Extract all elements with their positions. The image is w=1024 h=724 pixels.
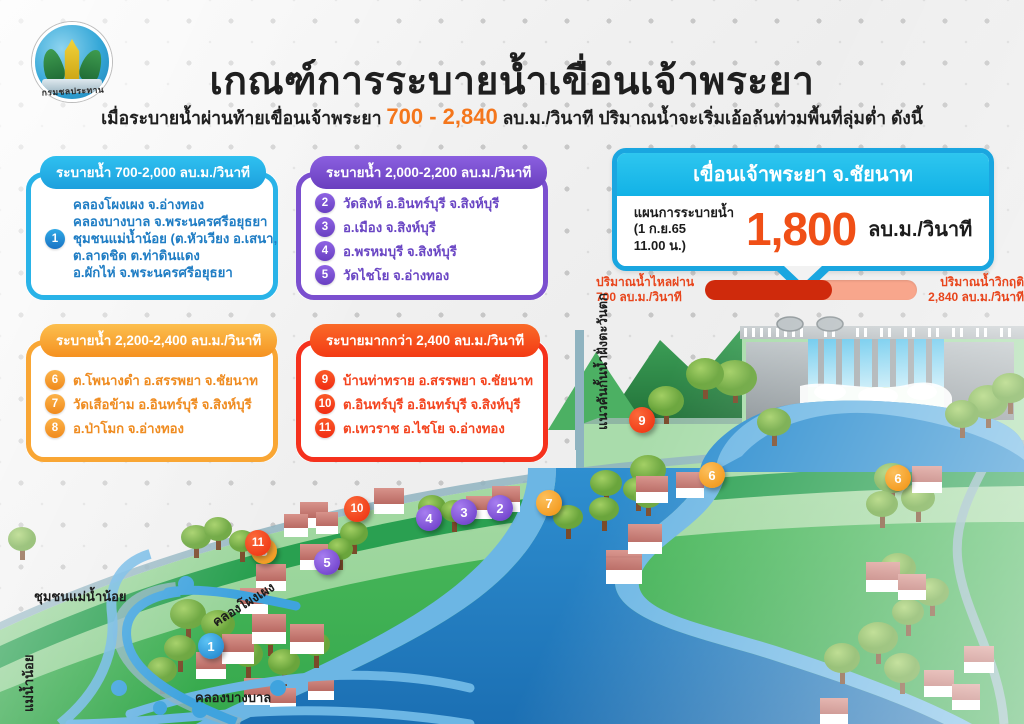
map-badge-10[interactable]: 10 <box>344 496 370 522</box>
card-rows: 2 วัดสิงห์ อ.อินทร์บุรี จ.สิงห์บุรี 3 อ.… <box>315 193 531 286</box>
list-item-number: 9 <box>315 370 335 390</box>
list-item[interactable]: 8 อ.ป่าโมก จ.อ่างทอง <box>45 418 261 439</box>
list-item-line: วัดไชโย จ.อ่างทอง <box>343 265 449 286</box>
list-item-number: 1 <box>45 229 65 249</box>
dam-panel-metric: แผนการระบายน้ำ (1 ก.ย.65 11.00 น.) 1,800… <box>617 196 989 266</box>
map-badge-4[interactable]: 4 <box>416 505 442 531</box>
list-item-line: ต.โพนางดำ อ.สรรพยา จ.ชัยนาท <box>73 370 258 391</box>
gauge-fill <box>705 280 832 300</box>
dam-plan-line-1: แผนการระบายน้ำ <box>634 205 734 221</box>
map-badge-11[interactable]: 11 <box>245 530 271 556</box>
list-item[interactable]: 5 วัดไชโย จ.อ่างทอง <box>315 265 531 286</box>
map-label-flood-embankment: แนวคันกั้นน้ำฝั่งตะวันตก <box>592 293 613 430</box>
dam-discharge-value: 1,800 <box>746 206 856 252</box>
subtitle-prefix: เมื่อระบายน้ำผ่านท้ายเขื่อนเจ้าพระยา <box>101 108 381 128</box>
list-item-number: 3 <box>315 217 335 237</box>
card-rows: 6 ต.โพนางดำ อ.สรรพยา จ.ชัยนาท 7 วัดเสือข… <box>45 370 261 439</box>
legend-card-over-2400: ระบายมากกว่า 2,400 ลบ.ม./วินาที 9 บ้านท่… <box>296 340 548 462</box>
gauge-track <box>705 280 917 300</box>
list-item[interactable]: 9 บ้านท่าทราย อ.สรรพยา จ.ชัยนาท <box>315 370 531 391</box>
card-content: 6 ต.โพนางดำ อ.สรรพยา จ.ชัยนาท 7 วัดเสือข… <box>31 345 273 457</box>
gauge-left-line-1: ปริมาณน้ำไหลผ่าน <box>596 275 694 290</box>
list-item-number: 6 <box>45 370 65 390</box>
dam-plan-label: แผนการระบายน้ำ (1 ก.ย.65 11.00 น.) <box>634 205 734 254</box>
list-item-number: 11 <box>315 418 335 438</box>
dam-plan-line-3: 11.00 น.) <box>634 238 734 254</box>
subtitle-suffix: ลบ.ม./วินาที ปริมาณน้ำจะเริ่มเอ้อล้นท่วม… <box>503 108 923 128</box>
card-rows: 1 คลองโผงเผง จ.อ่างทอง คลองบางบาล จ.พระน… <box>45 197 261 281</box>
list-item-line: คลองโผงเผง จ.อ่างทอง <box>73 197 277 213</box>
dam-panel-frame: เขื่อนเจ้าพระยา จ.ชัยนาท แผนการระบายน้ำ … <box>612 148 994 271</box>
list-item-number: 2 <box>315 193 335 213</box>
map-badge-6[interactable]: 6 <box>699 462 725 488</box>
map-badge-7[interactable]: 7 <box>536 490 562 516</box>
list-item-line: ต.อินทร์บุรี อ.อินทร์บุรี จ.สิงห์บุรี <box>343 394 521 415</box>
list-item-line: บ้านท่าทราย อ.สรรพยา จ.ชัยนาท <box>343 370 533 391</box>
list-item-number: 5 <box>315 265 335 285</box>
dam-discharge-unit: ลบ.ม./วินาที <box>868 213 972 245</box>
legend-card-700-2000: ระบายน้ำ 700-2,000 ลบ.ม./วินาที 1 คลองโผ… <box>26 172 278 300</box>
page-subtitle: เมื่อระบายน้ำผ่านท้ายเขื่อนเจ้าพระยา 700… <box>0 104 1024 132</box>
card-rows: 9 บ้านท่าทราย อ.สรรพยา จ.ชัยนาท 10 ต.อิน… <box>315 370 531 439</box>
list-item-number: 7 <box>45 394 65 414</box>
map-badge-6[interactable]: 6 <box>885 465 911 491</box>
list-item-line: ต.ลาดชิด ต.ท่าดินแดง <box>73 248 277 264</box>
discharge-gauge: ปริมาณน้ำไหลผ่าน 700 ลบ.ม./วินาที ปริมาณ… <box>596 268 1024 312</box>
list-item-line: วัดเสือข้าม อ.อินทร์บุรี จ.สิงห์บุรี <box>73 394 252 415</box>
map-label-mae-nam-noi-community: ชุมชนแม่น้ำน้อย <box>34 586 127 607</box>
list-item-number: 4 <box>315 241 335 261</box>
list-item[interactable]: 11 ต.เทวราช อ.ไชโย จ.อ่างทอง <box>315 418 531 439</box>
list-item-line: อ.พรหมบุรี จ.สิงห์บุรี <box>343 241 457 262</box>
list-item[interactable]: 7 วัดเสือข้าม อ.อินทร์บุรี จ.สิงห์บุรี <box>45 394 261 415</box>
legend-card-2200-2400: ระบายน้ำ 2,200-2,400 ลบ.ม./วินาที 6 ต.โพ… <box>26 340 278 462</box>
map-badge-5[interactable]: 5 <box>314 549 340 575</box>
list-item-line: คลองบางบาล จ.พระนครศรีอยุธยา <box>73 214 277 230</box>
list-item[interactable]: 1 คลองโผงเผง จ.อ่างทอง คลองบางบาล จ.พระน… <box>45 197 261 281</box>
list-item-line: อ.เมือง จ.สิงห์บุรี <box>343 217 436 238</box>
gauge-right-line-2: 2,840 ลบ.ม./วินาที <box>928 290 1024 305</box>
list-item-line: อ.ป่าโมก จ.อ่างทอง <box>73 418 184 439</box>
list-item-number: 8 <box>45 418 65 438</box>
list-item-line: อ.ผักไห่ จ.พระนครศรีอยุธยา <box>73 265 277 281</box>
list-item-number: 10 <box>315 394 335 414</box>
gauge-right-label: ปริมาณน้ำวิกฤติ 2,840 ลบ.ม./วินาที <box>928 275 1024 305</box>
map-label-khlong-bang-ban: คลองบางบาล <box>195 687 271 708</box>
legend-card-2000-2200: ระบายน้ำ 2,000-2,200 ลบ.ม./วินาที 2 วัดส… <box>296 172 548 300</box>
map-badge-1[interactable]: 1 <box>198 633 224 659</box>
gauge-right-line-1: ปริมาณน้ำวิกฤติ <box>928 275 1024 290</box>
subtitle-range-value: 700 - 2,840 <box>386 104 497 129</box>
map-badge-9[interactable]: 9 <box>629 407 655 433</box>
list-item[interactable]: 6 ต.โพนางดำ อ.สรรพยา จ.ชัยนาท <box>45 370 261 391</box>
dam-panel-title: เขื่อนเจ้าพระยา จ.ชัยนาท <box>617 153 989 196</box>
map-label-mae-nam-noi: แม่น้ำน้อย <box>18 655 39 712</box>
card-content: 1 คลองโผงเผง จ.อ่างทอง คลองบางบาล จ.พระน… <box>31 177 273 295</box>
infographic-root: แนวคันกั้นน้ำฝั่งตะวันตก ชุมชนแม่น้ำน้อย… <box>0 0 1024 724</box>
list-item[interactable]: 3 อ.เมือง จ.สิงห์บุรี <box>315 217 531 238</box>
list-item[interactable]: 10 ต.อินทร์บุรี อ.อินทร์บุรี จ.สิงห์บุรี <box>315 394 531 415</box>
list-item-line: ชุมชนแม่น้ำน้อย (ต.หัวเวียง อ.เสนา, <box>73 231 277 247</box>
card-content: 9 บ้านท่าทราย อ.สรรพยา จ.ชัยนาท 10 ต.อิน… <box>301 345 543 457</box>
map-badge-3[interactable]: 3 <box>451 499 477 525</box>
list-item-text-block: คลองโผงเผง จ.อ่างทอง คลองบางบาล จ.พระนคร… <box>73 197 277 281</box>
list-item[interactable]: 4 อ.พรหมบุรี จ.สิงห์บุรี <box>315 241 531 262</box>
page-title: เกณฑ์การระบายน้ำเขื่อนเจ้าพระยา <box>0 50 1024 112</box>
card-content: 2 วัดสิงห์ อ.อินทร์บุรี จ.สิงห์บุรี 3 อ.… <box>301 177 543 295</box>
map-badge-2[interactable]: 2 <box>487 495 513 521</box>
dam-status-panel: เขื่อนเจ้าพระยา จ.ชัยนาท แผนการระบายน้ำ … <box>612 148 994 284</box>
list-item-line: วัดสิงห์ อ.อินทร์บุรี จ.สิงห์บุรี <box>343 193 499 214</box>
list-item-line: ต.เทวราช อ.ไชโย จ.อ่างทอง <box>343 418 505 439</box>
list-item[interactable]: 2 วัดสิงห์ อ.อินทร์บุรี จ.สิงห์บุรี <box>315 193 531 214</box>
dam-plan-line-2: (1 ก.ย.65 <box>634 221 734 237</box>
